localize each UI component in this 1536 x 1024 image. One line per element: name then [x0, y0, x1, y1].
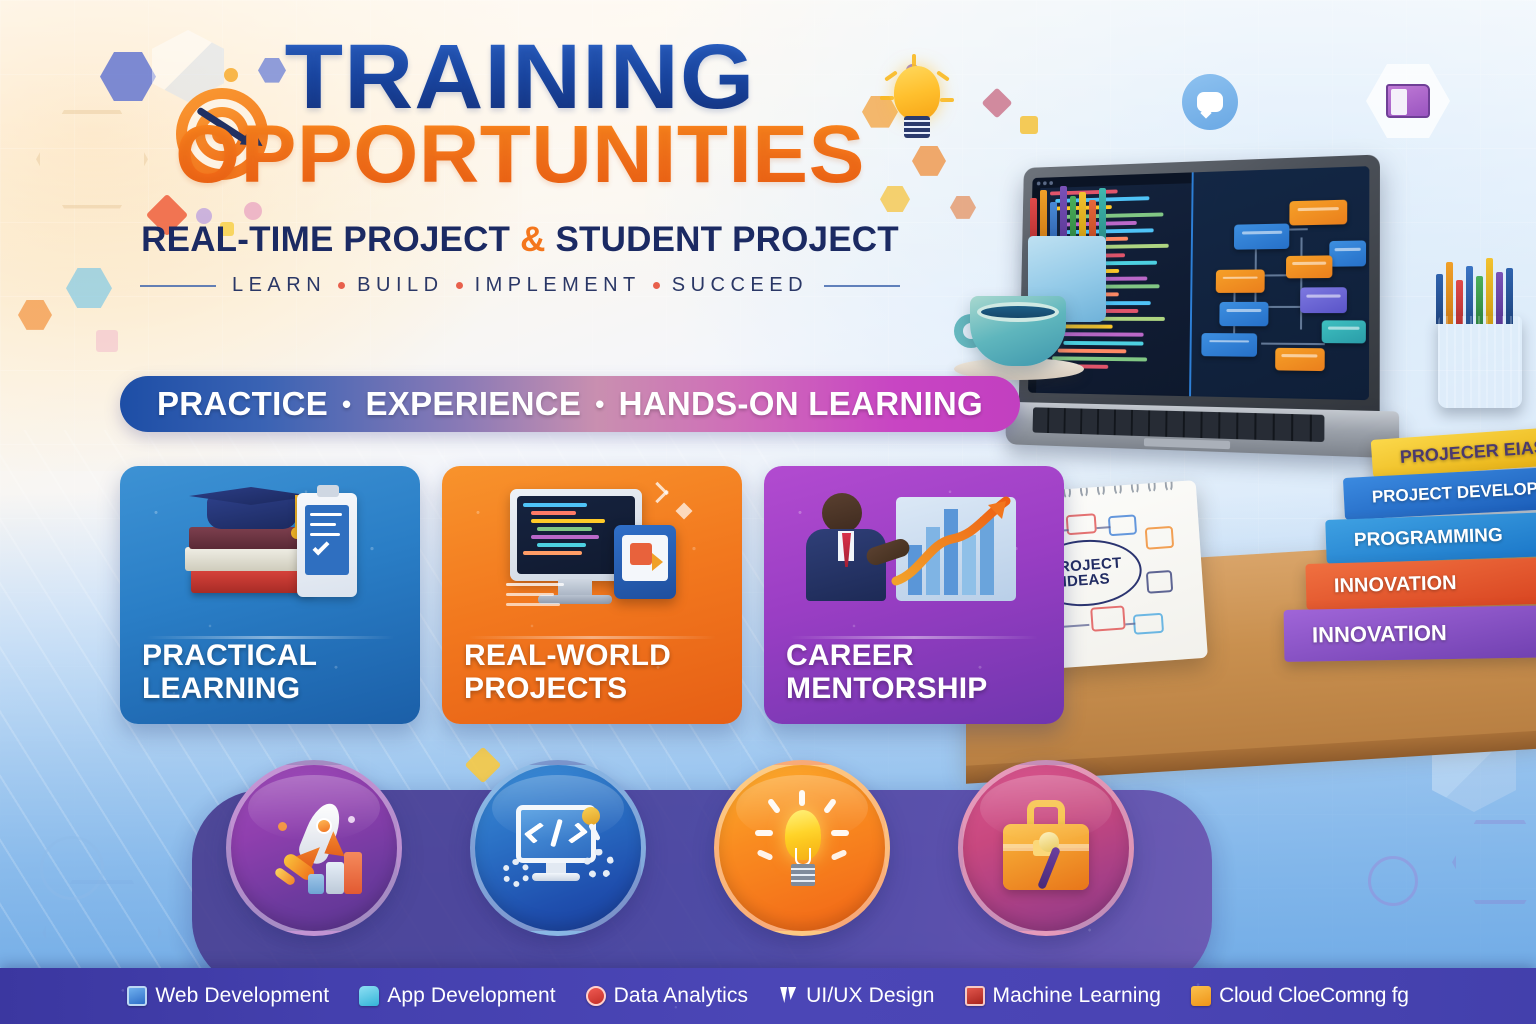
book-label: PROJECT DEVELOPMENT [1343, 476, 1536, 509]
card-label-line2: MENTORSHIP [786, 672, 1042, 706]
subtitle-left: REAL-TIME PROJECT [141, 220, 510, 259]
lightbulb-icon [714, 760, 890, 936]
flow-node [1216, 269, 1265, 292]
decor-square [96, 330, 118, 352]
book-item: INNOVATION [1305, 557, 1536, 610]
tagline-word: SUCCEED [672, 274, 808, 297]
tagline-dot [338, 282, 345, 289]
notepad-line2: IDEAS [1062, 572, 1110, 591]
feature-card-label: REAL-WORLD PROJECTS [442, 639, 742, 724]
tagline: LEARN BUILD IMPLEMENT SUCCEED [232, 274, 808, 297]
badge-career-growth[interactable]: CAREER GROWTH [940, 760, 1152, 974]
book-item: PROGRAMMING [1325, 512, 1536, 564]
feature-card-label: CAREER MENTORSHIP [764, 639, 1064, 724]
book-label: PROJECER EIAS [1371, 436, 1536, 469]
practice-band: PRACTICE • EXPERIENCE • HANDS-ON LEARNIN… [120, 376, 1020, 432]
app-icon [359, 986, 379, 1006]
cloud-icon [1191, 986, 1211, 1006]
banner-stage: PROJECT IDEAS PROJECER EIAS PROJECT DEVE… [0, 0, 1536, 1024]
flow-node [1219, 301, 1268, 326]
book-item: PROJECT DEVELOPMENT [1343, 467, 1536, 520]
flow-node [1275, 347, 1325, 371]
band-word: EXPERIENCE [365, 385, 581, 423]
growth-arrow-icon [890, 489, 1018, 595]
feature-card-real-world-projects[interactable]: REAL-WORLD PROJECTS [442, 466, 742, 724]
card-label-line1: PRACTICAL [142, 639, 398, 673]
analytics-icon [586, 986, 606, 1006]
flow-node [1321, 320, 1365, 344]
badge-live-projects[interactable]: LIVE PROJECTS [208, 760, 420, 974]
footer-item-label: Machine Learning [993, 984, 1162, 1008]
monitor-code-icon [442, 478, 742, 628]
feature-card-career-mentorship[interactable]: CAREER MENTORSHIP [764, 466, 1064, 724]
feature-card-label: PRACTICAL LEARNING [120, 639, 420, 724]
card-label-line1: REAL-WORLD [464, 639, 720, 673]
subtitle-ampersand: & [520, 220, 545, 259]
band-word: PRACTICE [157, 385, 328, 423]
uiux-icon [778, 986, 798, 1006]
laptop-trackpad [1144, 438, 1230, 449]
briefcase-icon [958, 760, 1134, 936]
feature-card-practical-learning[interactable]: PRACTICAL LEARNING [120, 466, 420, 724]
flow-node [1286, 255, 1333, 279]
card-label-line1: CAREER [786, 639, 1042, 673]
footer-item-label: Web Development [155, 984, 329, 1008]
band-word: HANDS-ON LEARNING [619, 385, 983, 423]
tagline-word: LEARN [232, 274, 326, 297]
graduation-cap-books-icon [120, 478, 420, 628]
tagline-word: BUILD [357, 274, 443, 297]
badge-row: LIVE PROJECTS CODING PRAC [208, 760, 1152, 974]
page-title-line1: TRAINING [0, 34, 1061, 120]
code-monitor-icon [470, 760, 646, 936]
rocket-icon [226, 760, 402, 936]
tagline-dot [456, 282, 463, 289]
footer-item-label: Cloud CloeComng fg [1219, 984, 1409, 1008]
feature-cards: PRACTICAL LEARNING [120, 466, 1064, 724]
footer-item-label: Data Analytics [614, 984, 748, 1008]
web-icon [127, 986, 147, 1006]
tagline-row: LEARN BUILD IMPLEMENT SUCCEED [0, 274, 1040, 297]
card-label-line2: PROJECTS [464, 672, 720, 706]
flowchart-pane [1191, 166, 1369, 400]
tagline-rule-right [824, 285, 900, 287]
flow-node [1234, 223, 1290, 249]
footer-item-machine-learning[interactable]: Machine Learning [965, 984, 1162, 1008]
book-item: INNOVATION [1284, 605, 1536, 662]
card-label-line2: LEARNING [142, 672, 398, 706]
book-label: INNOVATION [1306, 572, 1457, 599]
tagline-rule-left [140, 285, 216, 287]
ml-icon [965, 986, 985, 1006]
mentor-growth-chart-icon [764, 478, 1064, 628]
book-label: INNOVATION [1284, 620, 1447, 649]
mesh-pencil-cup [1438, 316, 1522, 408]
footer-item-label: App Development [387, 984, 555, 1008]
footer-item-data-analytics[interactable]: Data Analytics [586, 984, 748, 1008]
tagline-word: IMPLEMENT [475, 274, 641, 297]
footer-item-app-development[interactable]: App Development [359, 984, 555, 1008]
flow-node [1290, 199, 1348, 226]
badge-coding-practice[interactable]: CODING PRACTICE [452, 760, 664, 974]
footer-item-uiux-design[interactable]: UI/UX Design [778, 984, 934, 1008]
tagline-dot [653, 282, 660, 289]
flow-node [1300, 287, 1347, 313]
header: TRAINING OPPORTUNITIES REAL-TIME PROJECT… [0, 0, 1040, 297]
coffee-cup [970, 296, 1066, 366]
footer-item-web-development[interactable]: Web Development [127, 984, 329, 1008]
page-subtitle: REAL-TIME PROJECT & STUDENT PROJECT [0, 220, 1040, 260]
book-stack: PROJECER EIAS PROJECT DEVELOPMENT PROGRA… [1276, 440, 1536, 690]
flow-node [1329, 240, 1366, 266]
subtitle-right: STUDENT PROJECT [556, 220, 899, 259]
badge-skill-development[interactable]: SKILL DEVELOPMENT [696, 760, 908, 974]
footer-item-label: UI/UX Design [806, 984, 934, 1008]
practice-band-text: PRACTICE • EXPERIENCE • HANDS-ON LEARNIN… [157, 385, 983, 423]
footer-item-cloud-computing[interactable]: Cloud CloeComng fg [1191, 984, 1409, 1008]
mesh-cup-pencils [1436, 252, 1524, 324]
footer-bar: Web Development App Development Data Ana… [0, 968, 1536, 1024]
book-label: PROGRAMMING [1326, 525, 1503, 553]
flow-node [1202, 333, 1258, 356]
page-title-line2: OPPORTUNITIES [0, 114, 1050, 196]
laptop-keyboard [1033, 407, 1325, 442]
